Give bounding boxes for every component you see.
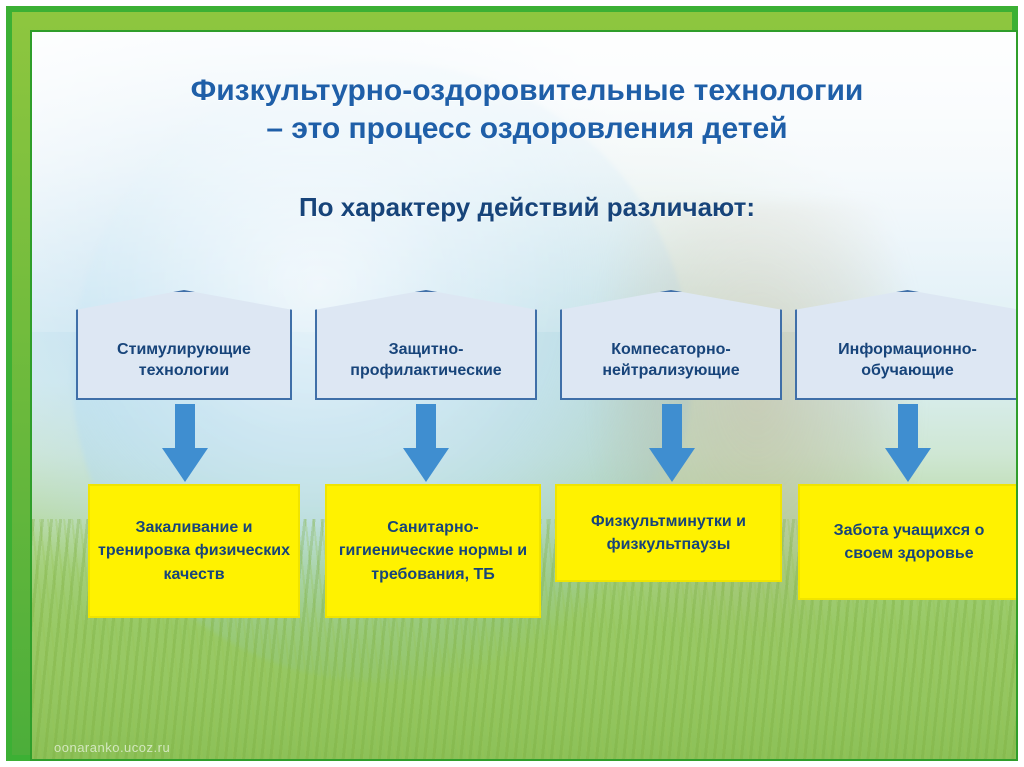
- category-label-line-1: Защитно-: [323, 340, 529, 361]
- result-label: Закаливание и тренировка физических каче…: [98, 516, 290, 586]
- down-arrow-icon: [649, 404, 695, 482]
- arrow-shaft: [175, 404, 195, 450]
- category-box-protective: Защитно- профилактические: [315, 290, 537, 400]
- slide: Физкультурно-оздоровительные технологии …: [0, 0, 1024, 767]
- category-box-stimulating: Стимулирующие технологии: [76, 290, 292, 400]
- result-box-selfcare: Забота учащихся о своем здоровье: [798, 484, 1018, 600]
- down-arrow-icon: [162, 404, 208, 482]
- result-box-hardening: Закаливание и тренировка физических каче…: [88, 484, 300, 618]
- page-subtitle: По характеру действий различают:: [92, 192, 962, 223]
- watermark: oonaranko.ucoz.ru: [54, 740, 170, 755]
- down-arrow-icon: [885, 404, 931, 482]
- arrow-head: [162, 448, 208, 482]
- arrow-shaft: [416, 404, 436, 450]
- arrow-shaft: [662, 404, 682, 450]
- slide-green-border: Физкультурно-оздоровительные технологии …: [6, 6, 1018, 761]
- category-label-line-1: Компесаторно-: [568, 340, 774, 361]
- arrow-head: [885, 448, 931, 482]
- arrow-head: [403, 448, 449, 482]
- slide-inner-frame: Физкультурно-оздоровительные технологии …: [30, 30, 1018, 761]
- result-box-fitbreaks: Физкультминутки и физкультпаузы: [555, 484, 782, 582]
- arrow-head: [649, 448, 695, 482]
- result-label: Забота учащихся о своем здоровье: [808, 519, 1010, 565]
- page-title-line-1: Физкультурно-оздоровительные технологии: [92, 72, 962, 110]
- category-box-compensatory: Компесаторно- нейтрализующие: [560, 290, 782, 400]
- category-label-line-2: профилактические: [323, 361, 529, 382]
- category-label-line-1: Информационно-: [803, 340, 1012, 361]
- category-label-line-1: Стимулирующие: [84, 340, 284, 361]
- page-title: Физкультурно-оздоровительные технологии …: [92, 72, 962, 147]
- category-label-line-2: нейтрализующие: [568, 361, 774, 382]
- down-arrow-icon: [403, 404, 449, 482]
- result-label: Санитарно-гигиенические нормы и требован…: [335, 516, 531, 586]
- category-label-line-2: обучающие: [803, 361, 1012, 382]
- category-label-line-2: технологии: [84, 361, 284, 382]
- category-box-informational: Информационно- обучающие: [795, 290, 1018, 400]
- arrow-shaft: [898, 404, 918, 450]
- result-label: Физкультминутки и физкультпаузы: [565, 510, 772, 556]
- result-box-sanitary: Санитарно-гигиенические нормы и требован…: [325, 484, 541, 618]
- page-title-line-2: – это процесс оздоровления детей: [92, 110, 962, 148]
